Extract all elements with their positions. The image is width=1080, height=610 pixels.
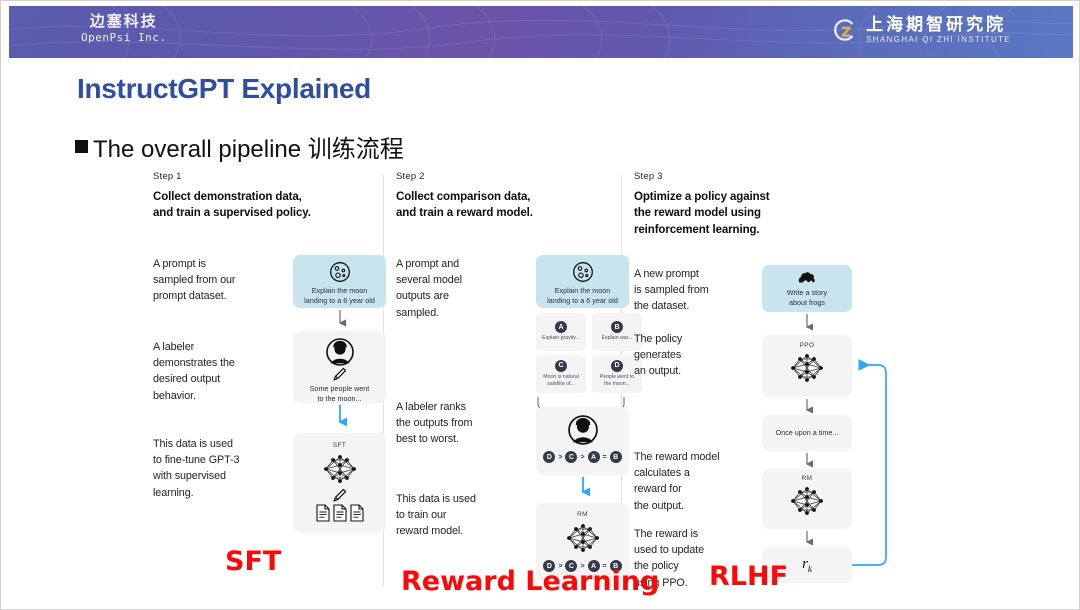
step1-paragraph-1: A prompt is sampled from our prompt data… — [153, 256, 273, 305]
step1-model-label: SFT — [293, 442, 386, 449]
step2-heading: Collect comparison data, and train a rew… — [396, 189, 631, 222]
qizhi-logo-cn: 上海期智研究院 — [866, 16, 1011, 33]
step2-prompt-caption: Explain the moon landing to a 6 year old — [536, 286, 629, 306]
step3-rm-label: RM — [762, 475, 852, 482]
openpsi-logo-en: OpenPsi Inc. — [81, 32, 166, 45]
step2-label: Step 2 — [396, 171, 631, 182]
instructgpt-pipeline-figure: Step 1 Collect demonstration data, and t… — [131, 171, 921, 591]
step3-prompt-caption: Write a story about frogs — [762, 288, 852, 308]
frog-icon — [797, 271, 817, 285]
option-badge-b: B — [611, 321, 623, 333]
step2-option-a: A Explain gravity... — [536, 313, 586, 351]
pipeline-column-step2: Step 2 Collect comparison data, and trai… — [396, 171, 631, 591]
step2-option-c: C Moon is natural satellite of... — [536, 355, 586, 393]
step2-paragraph-3: This data is used to train our reward mo… — [396, 491, 526, 540]
slide-header-banner: 边塞科技 OpenPsi Inc. 上海期智研究院 SHANGHAI QI ZH… — [9, 6, 1073, 58]
option-text-a: Explain gravity... — [539, 335, 583, 342]
arrow-down-icon — [800, 314, 814, 334]
qizhi-logo: 上海期智研究院 SHANGHAI QI ZHI INSTITUTE — [830, 16, 1011, 44]
pipeline-column-step3: Step 3 Optimize a policy against the rew… — [634, 171, 889, 591]
step2-paragraph-2: A labeler ranks the outputs from best to… — [396, 399, 526, 448]
step1-prompt-caption: Explain the moon landing to a 6 year old — [293, 286, 386, 306]
step2-paragraph-1: A prompt and several model outputs are s… — [396, 256, 521, 321]
neural-net-icon — [787, 350, 827, 386]
option-text-c: Moon is natural satellite of... — [540, 374, 581, 388]
option-text-b: Explain war... — [599, 335, 636, 342]
person-icon — [326, 338, 354, 366]
step3-paragraph-3: The reward model calculates a reward for… — [634, 449, 764, 514]
option-badge-c: C — [555, 360, 567, 372]
reward-subscript: k — [808, 564, 812, 574]
step3-heading: Optimize a policy against the reward mod… — [634, 189, 889, 238]
documents-icon — [293, 504, 386, 522]
step1-heading: Collect demonstration data, and train a … — [153, 189, 388, 222]
openpsi-logo-cn: 边塞科技 — [81, 14, 166, 31]
arrow-down-blue-icon — [576, 477, 590, 499]
option-badge-a: A — [555, 321, 567, 333]
step2-ranking-row: D> C> A= B — [536, 451, 629, 463]
reward-value: rk — [802, 556, 812, 574]
step3-ppo-label: PPO — [762, 342, 852, 349]
step3-rm-model-card: RM — [762, 469, 852, 529]
red-label-reward-learning: Reward Learning — [401, 566, 659, 597]
arrow-down-blue-icon — [333, 405, 347, 429]
square-bullet-icon — [75, 140, 88, 153]
pencil-icon — [333, 367, 347, 381]
slide: 边塞科技 OpenPsi Inc. 上海期智研究院 SHANGHAI QI ZH… — [0, 0, 1080, 610]
arrow-down-icon — [333, 310, 347, 330]
update-policy-arrow-icon — [848, 357, 896, 569]
rank-badge-d: D — [543, 451, 555, 463]
step3-output-caption: Once upon a time... — [776, 428, 839, 438]
section-subtitle: The overall pipeline 训练流程 — [75, 129, 404, 164]
qizhi-logo-text: 上海期智研究院 SHANGHAI QI ZHI INSTITUTE — [866, 16, 1011, 44]
step3-label: Step 3 — [634, 171, 889, 182]
step1-labeler-caption: Some people went to the moon... — [293, 384, 386, 404]
section-subtitle-text: The overall pipeline 训练流程 — [93, 129, 404, 164]
page-title: InstructGPT Explained — [77, 73, 371, 105]
qizhi-logo-en: SHANGHAI QI ZHI INSTITUTE — [866, 36, 1011, 44]
pipeline-column-step1: Step 1 Collect demonstration data, and t… — [153, 171, 388, 591]
qz-monogram-icon — [830, 16, 858, 44]
step3-paragraph-1: A new prompt is sampled from the dataset… — [634, 266, 759, 315]
step3-paragraph-2: The policy generates an output. — [634, 331, 754, 380]
step1-sft-model-card: SFT — [293, 433, 386, 533]
neural-net-icon — [563, 520, 603, 556]
rank-badge-b: B — [610, 451, 622, 463]
step2-ranking-card: D> C> A= B — [536, 407, 629, 475]
step1-paragraph-3: This data is used to fine-tune GPT-3 wit… — [153, 436, 283, 501]
rank-badge-c: C — [565, 451, 577, 463]
option-badge-d: D — [611, 360, 623, 372]
step1-prompt-card: Explain the moon landing to a 6 year old — [293, 255, 386, 308]
pencil-icon — [333, 488, 347, 502]
step3-ppo-model-card: PPO — [762, 335, 852, 397]
step2-model-label: RM — [536, 511, 629, 518]
neural-net-icon — [320, 451, 360, 487]
red-label-rlhf: RLHF — [709, 561, 788, 592]
step1-label: Step 1 — [153, 171, 388, 182]
step1-labeler-card: Some people went to the moon... — [293, 331, 386, 403]
step1-paragraph-2: A labeler demonstrates the desired outpu… — [153, 339, 283, 404]
step3-output-card: Once upon a time... — [762, 415, 852, 451]
openpsi-logo: 边塞科技 OpenPsi Inc. — [81, 14, 166, 45]
moon-icon — [329, 261, 351, 283]
step3-prompt-card: Write a story about frogs — [762, 265, 852, 312]
step2-prompt-card: Explain the moon landing to a 6 year old — [536, 255, 629, 308]
rank-badge-a: A — [588, 451, 600, 463]
neural-net-icon — [787, 483, 827, 519]
moon-icon — [572, 261, 594, 283]
option-text-d: People went to the moon... — [597, 374, 637, 388]
person-icon — [568, 415, 598, 445]
red-label-sft: SFT — [225, 546, 281, 577]
